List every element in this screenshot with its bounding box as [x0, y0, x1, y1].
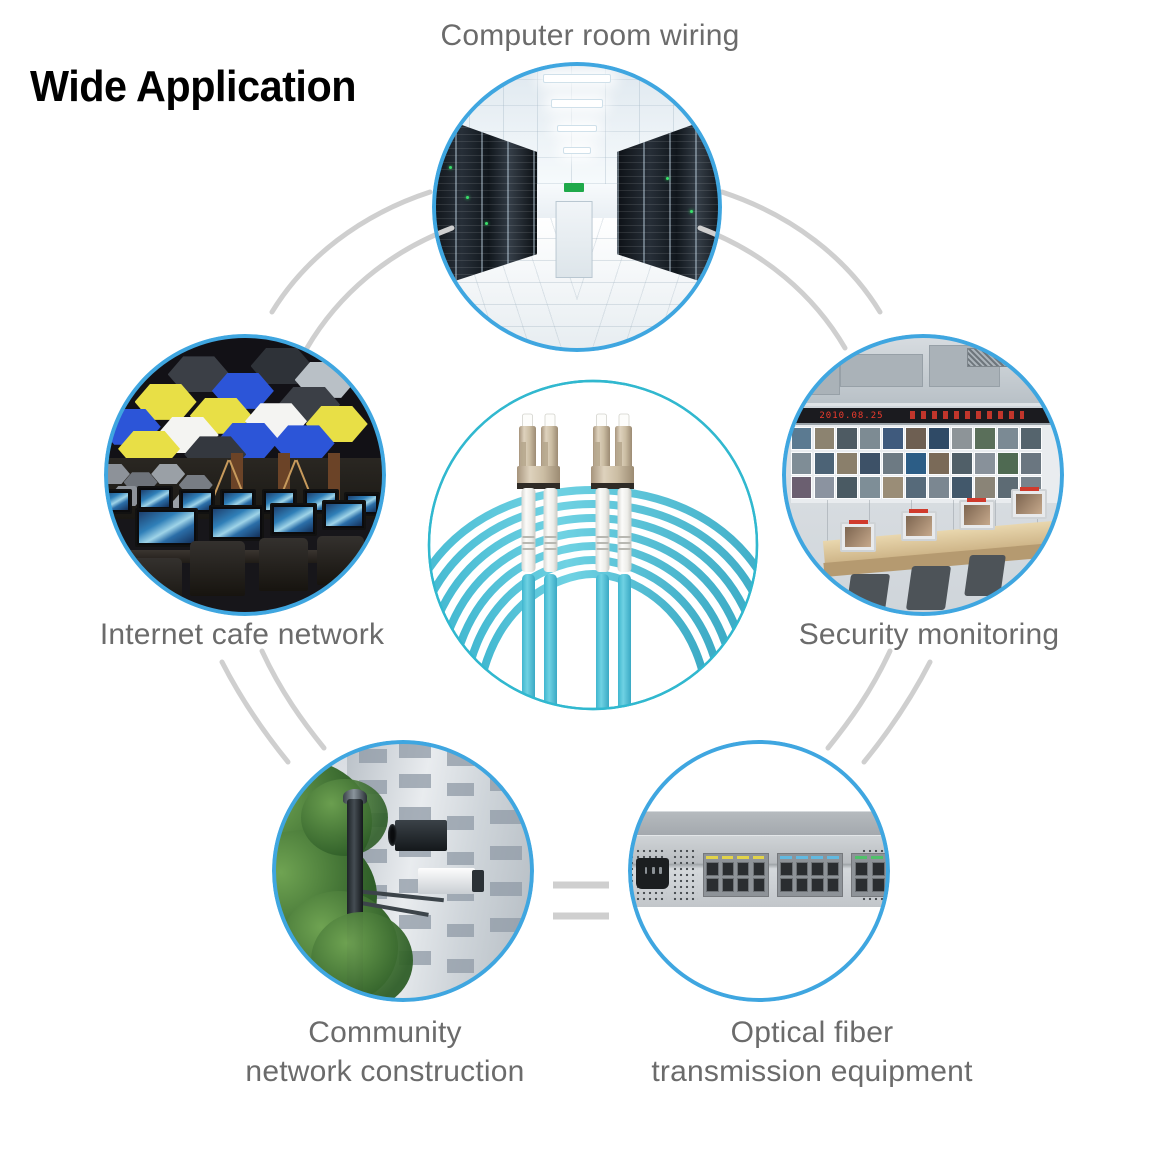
- node-security-monitoring[interactable]: 2010.08.25: [782, 334, 1064, 616]
- label-community-network-construction-line1: Community: [308, 1013, 462, 1052]
- label-optical-fiber-transmission-equipment-line2: transmission equipment: [651, 1052, 972, 1091]
- node-community-network-construction[interactable]: [272, 740, 534, 1002]
- label-internet-cafe-network: Internet cafe network: [100, 615, 384, 654]
- node-optical-fiber-transmission-equipment[interactable]: [628, 740, 890, 1002]
- node-internet-cafe-network[interactable]: [104, 334, 386, 616]
- security-monitoring-photo: 2010.08.25: [785, 337, 1061, 613]
- led-date-text: 2010.08.25: [819, 411, 883, 421]
- page-title: Wide Application: [30, 62, 356, 112]
- wide-application-infographic: Wide Application: [0, 0, 1154, 1154]
- label-security-monitoring: Security monitoring: [799, 615, 1060, 654]
- center-fiber-cable-circle[interactable]: [426, 378, 760, 712]
- optical-switch-photo: [631, 743, 887, 999]
- community-cctv-photo: [275, 743, 531, 999]
- internet-cafe-photo: [107, 337, 383, 613]
- node-computer-room-wiring[interactable]: [432, 62, 722, 352]
- computer-room-photo: [435, 65, 719, 349]
- fiber-cable-illustration: [426, 378, 760, 712]
- label-computer-room-wiring: Computer room wiring: [440, 16, 739, 55]
- label-optical-fiber-transmission-equipment-line1: Optical fiber: [731, 1013, 894, 1052]
- label-community-network-construction-line2: network construction: [245, 1052, 524, 1091]
